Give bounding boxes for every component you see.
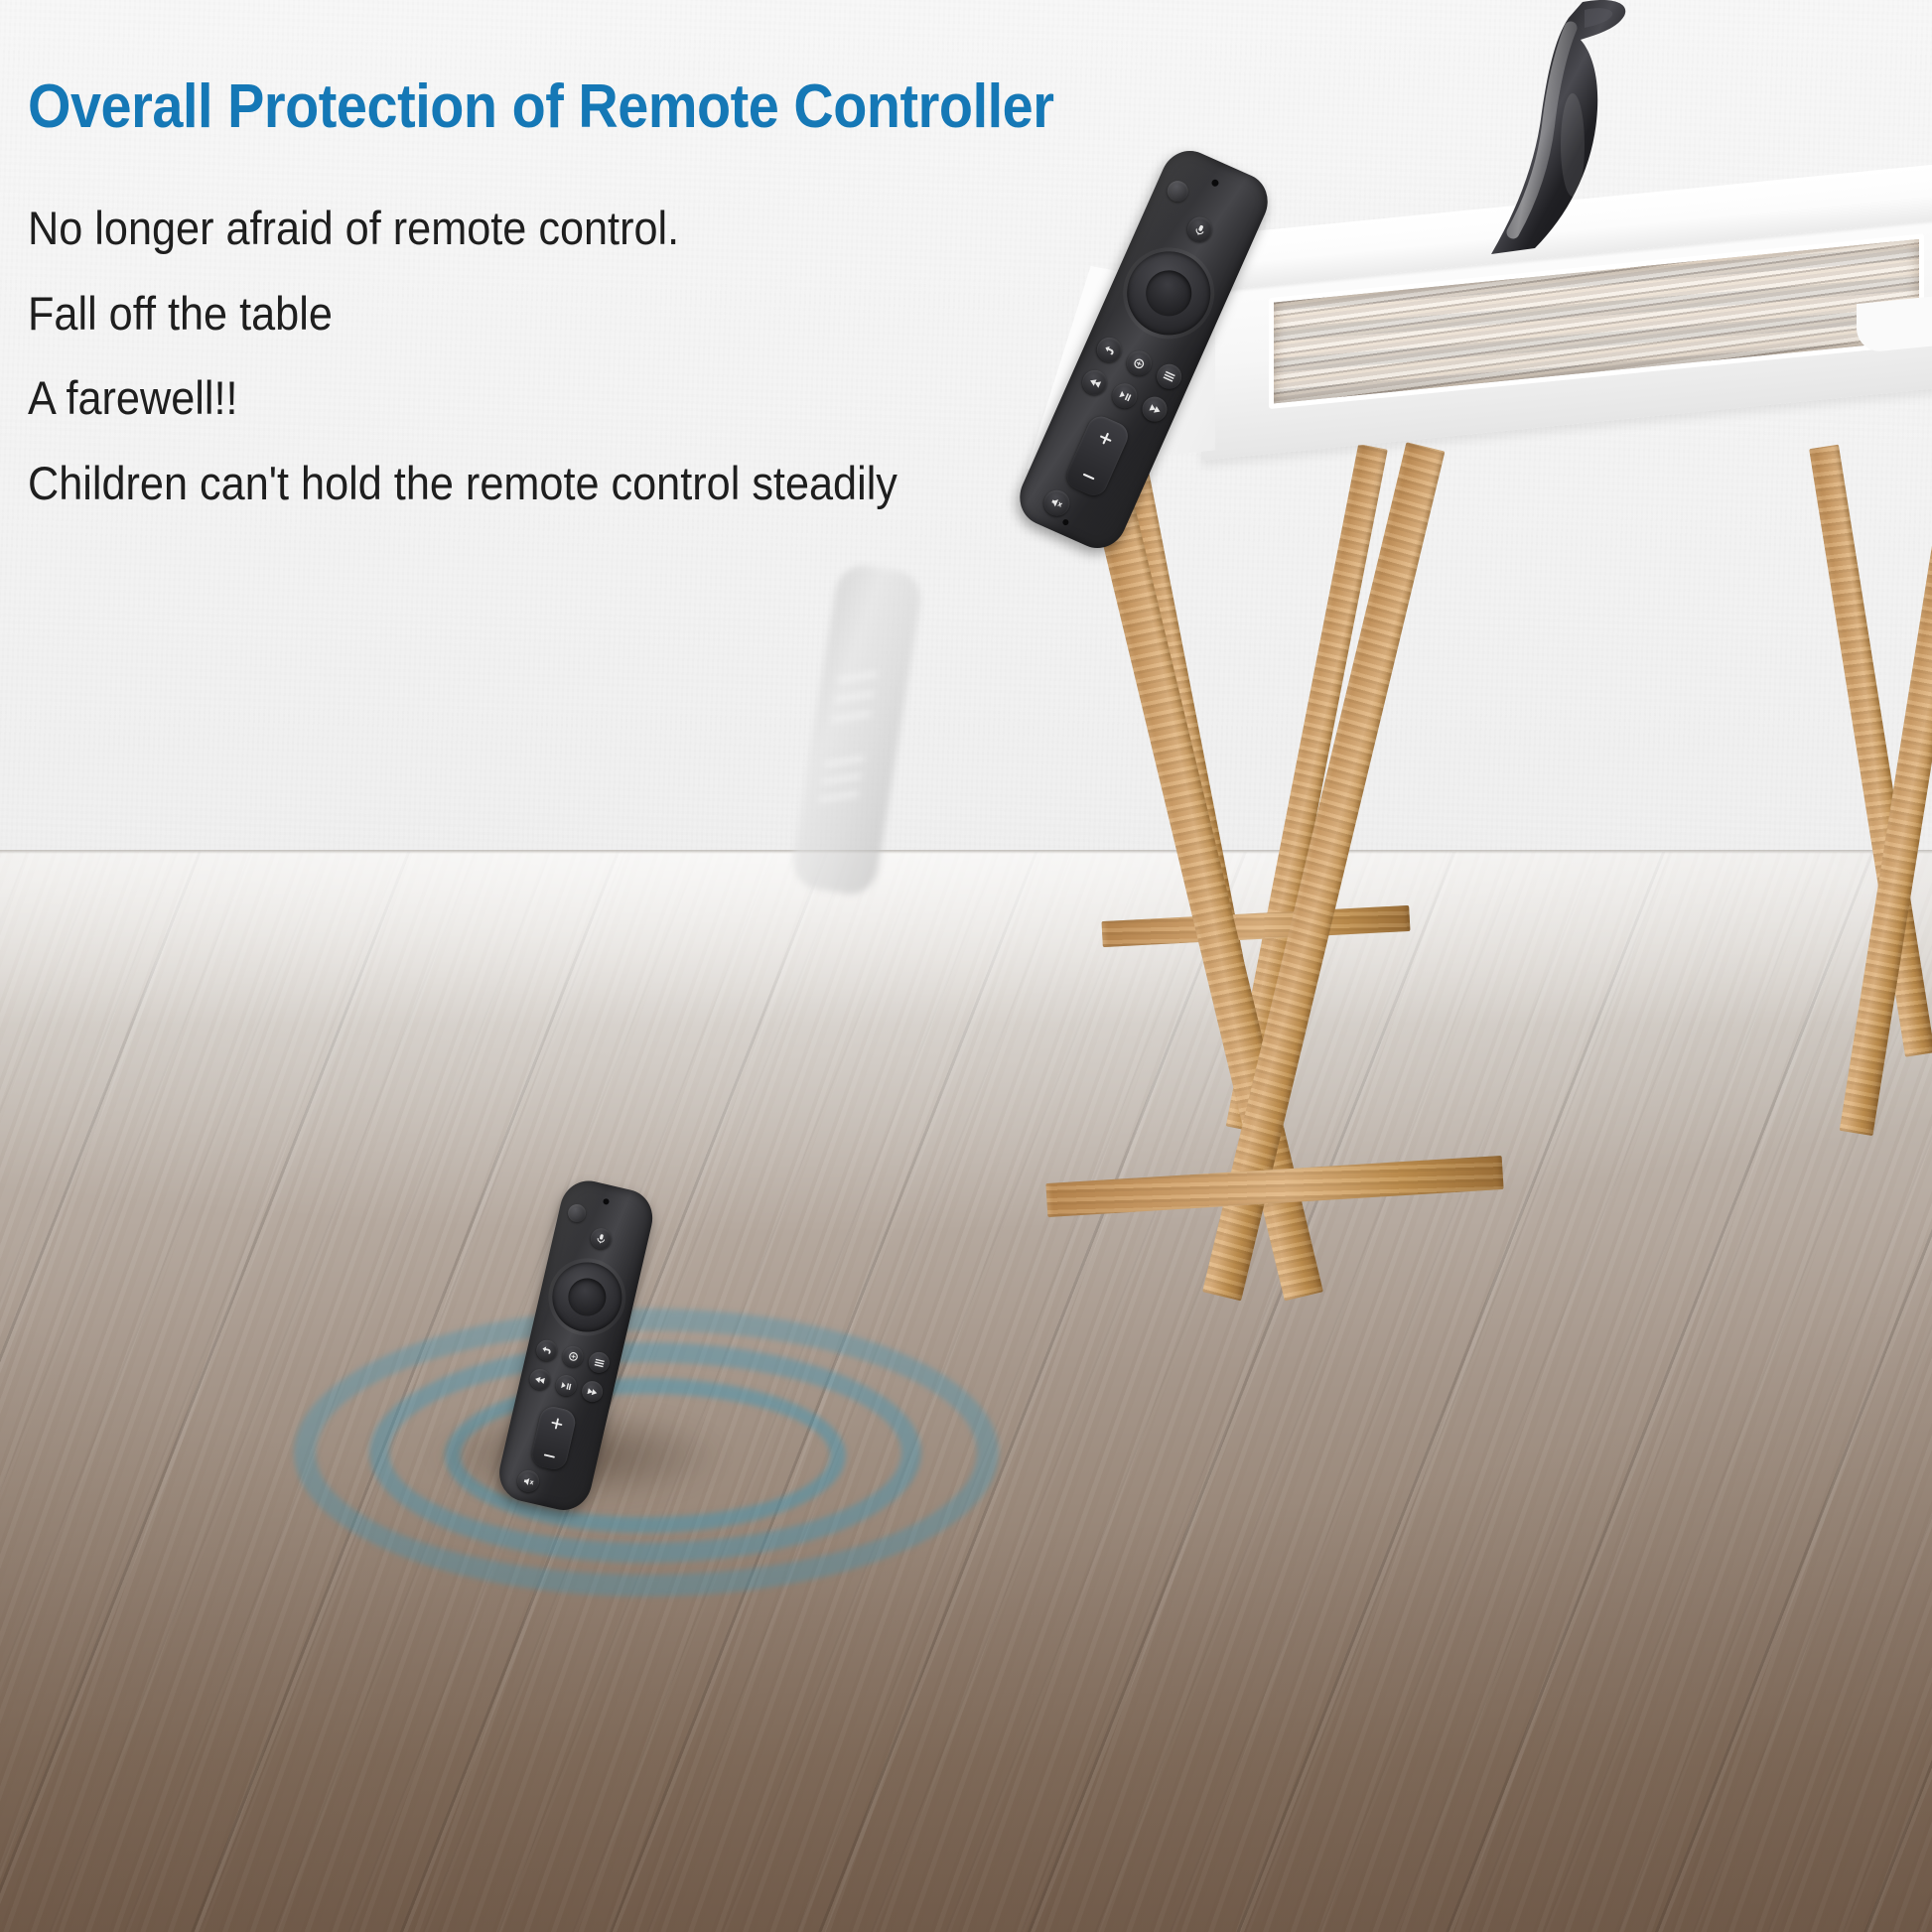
body-line-2: Fall off the table: [28, 286, 333, 341]
page-title: Overall Protection of Remote Controller: [28, 71, 1054, 142]
body-line-4: Children can't hold the remote control s…: [28, 456, 897, 510]
body-line-3: A farewell!!: [28, 370, 237, 425]
product-marketing-image: Overall Protection of Remote Controller …: [0, 0, 1932, 1932]
table-stretcher-back: [1102, 905, 1411, 947]
body-line-1: No longer afraid of remote control.: [28, 201, 679, 255]
trestle-desk: [1092, 149, 1932, 1370]
drawer-pull-notch: [1857, 296, 1932, 353]
bird-figurine-icon: [1465, 0, 1654, 260]
